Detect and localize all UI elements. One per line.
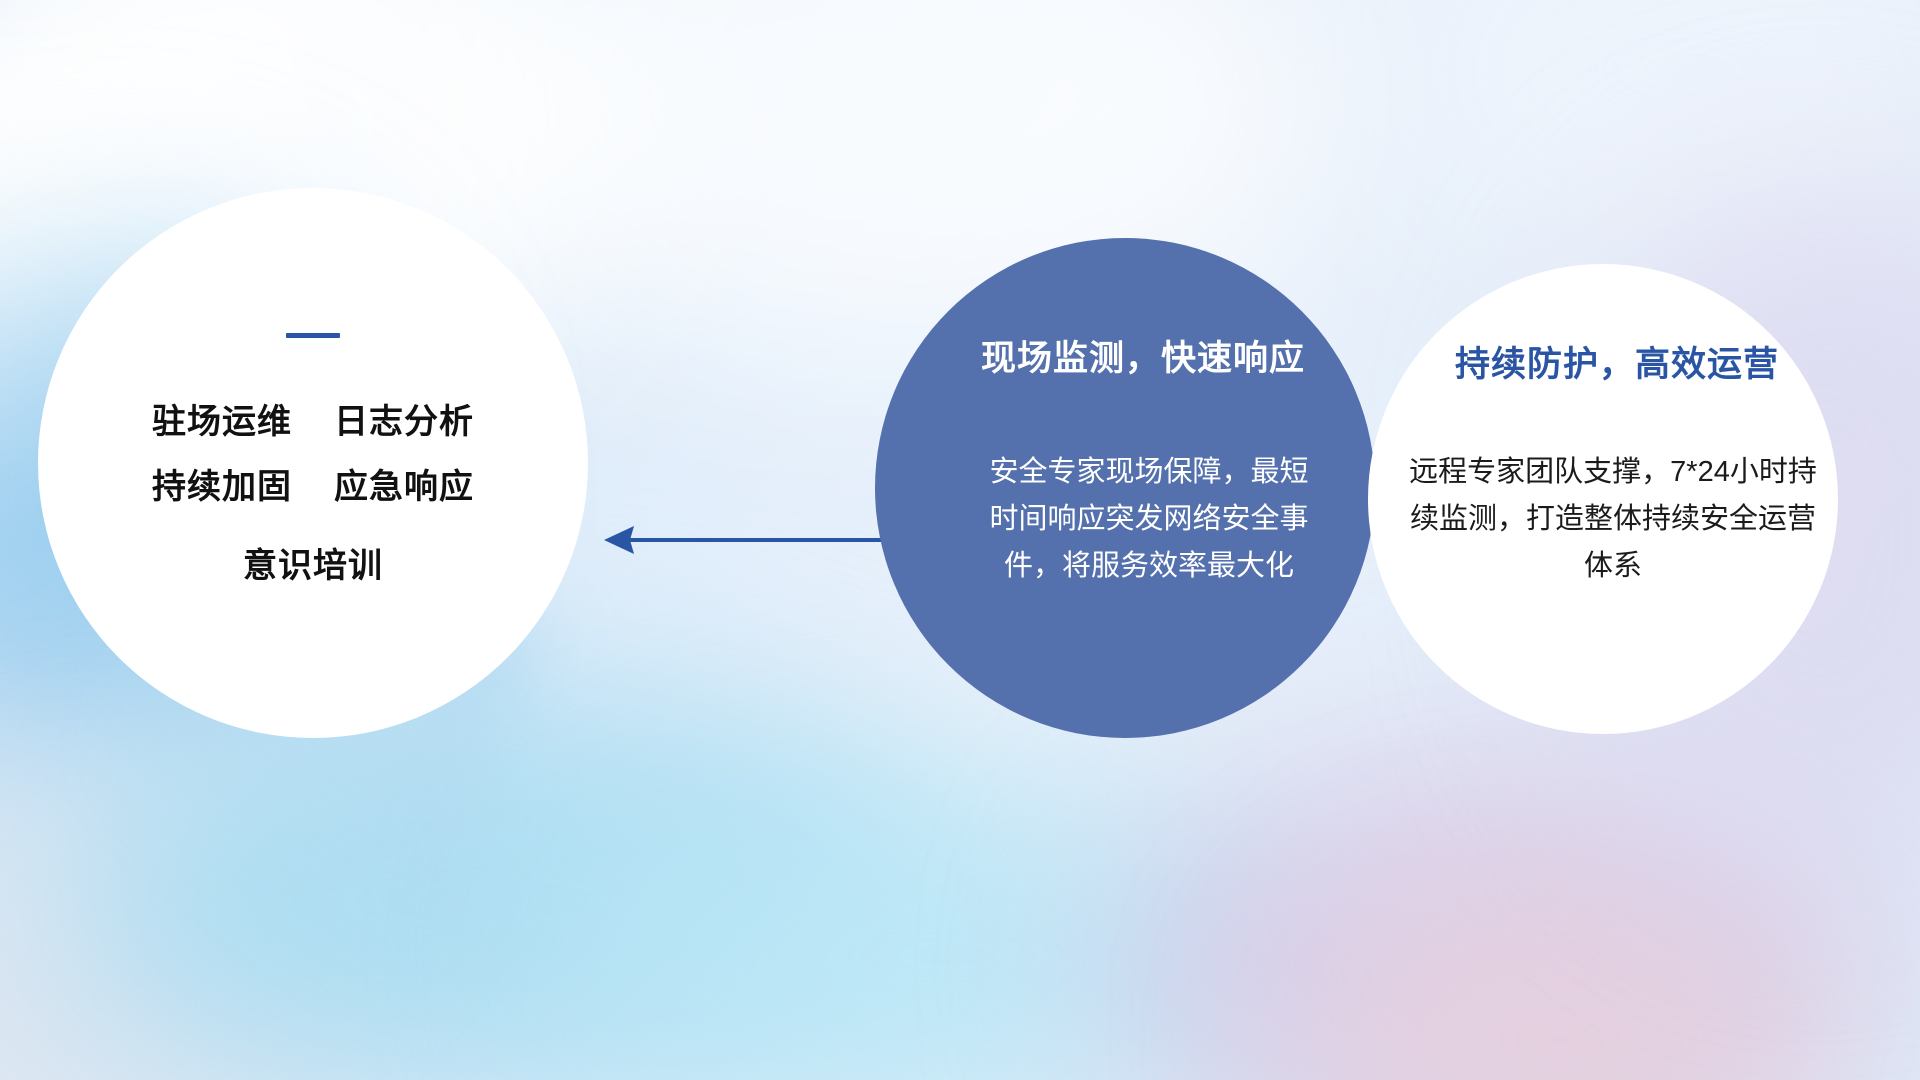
keyword-item: 日志分析: [334, 396, 474, 449]
onsite-monitoring-body: 安全专家现场保障，最短时间响应突发网络安全事件，将服务效率最大化: [984, 449, 1314, 590]
onsite-monitoring-circle[interactable]: 现场监测，快速响应 安全专家现场保障，最短时间响应突发网络安全事件，将服务效率最…: [875, 238, 1375, 738]
keyword-item: 持续加固: [152, 461, 292, 514]
keyword-row: 意识培训: [243, 540, 383, 593]
slide-canvas: 驻场运维 日志分析 持续加固 应急响应 意识培训 现场监测，快速响应 安全专家现…: [0, 0, 1920, 1080]
onsite-monitoring-title: 现场监测，快速响应: [981, 330, 1305, 381]
keyword-row: 驻场运维 日志分析: [152, 396, 474, 449]
connector-arrow: [600, 500, 900, 580]
capability-circle[interactable]: 驻场运维 日志分析 持续加固 应急响应 意识培训: [38, 188, 588, 738]
keyword-row: 持续加固 应急响应: [152, 461, 474, 514]
keyword-item: 应急响应: [334, 461, 474, 514]
title-divider: [286, 333, 340, 338]
continuous-protection-circle[interactable]: 持续防护，高效运营 远程专家团队支撑，7*24小时持续监测，打造整体持续安全运营…: [1368, 264, 1838, 734]
keyword-item: 驻场运维: [152, 396, 292, 449]
continuous-protection-title: 持续防护，高效运营: [1455, 336, 1779, 387]
arrow-left-icon: [604, 526, 634, 554]
keyword-item: 意识培训: [243, 540, 383, 593]
continuous-protection-body: 远程专家团队支撑，7*24小时持续监测，打造整体持续安全运营体系: [1403, 449, 1823, 590]
